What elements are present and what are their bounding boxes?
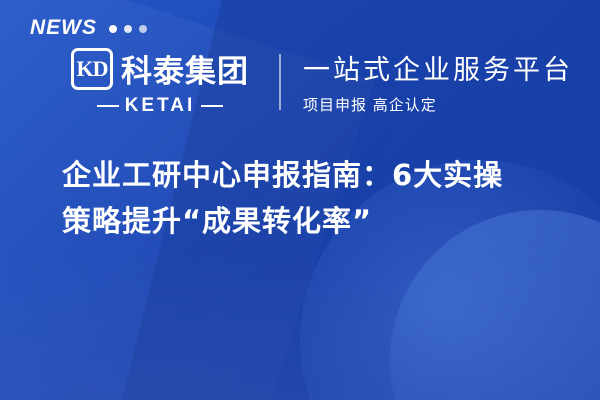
headline-line-2: 策略提升“成果转化率” — [62, 198, 552, 244]
logo-name-cn: 科泰集团 — [121, 46, 249, 91]
logo-primary-row: KD 科泰集团 — [71, 46, 249, 91]
three-dots-icon — [109, 25, 147, 33]
logo-secondary-row: KETAI — [55, 95, 265, 117]
dot — [124, 25, 132, 33]
logo-monogram-text: KD — [77, 58, 108, 80]
slogan-main: 一站式企业服务平台 — [303, 48, 573, 87]
news-header: NEWS — [30, 16, 147, 40]
headline-line-1: 企业工研中心申报指南：6大实操 — [62, 152, 552, 198]
vertical-divider — [279, 54, 281, 110]
logo-rule-left — [97, 105, 119, 107]
news-label: NEWS — [30, 16, 97, 40]
logo-rule-right — [201, 105, 223, 107]
brand-lockup: KD 科泰集团 KETAI 一站式企业服务平台 项目申报 高企认定 — [55, 46, 573, 117]
logo-name-en: KETAI — [125, 95, 196, 117]
headline: 企业工研中心申报指南：6大实操 策略提升“成果转化率” — [62, 152, 552, 244]
dot — [139, 25, 147, 33]
slogan-block: 一站式企业服务平台 项目申报 高企认定 — [303, 48, 573, 115]
news-banner: NEWS KD 科泰集团 KETAI 一站式企业服务平台 项目申报 高企认定 — [0, 0, 600, 400]
dot — [109, 25, 117, 33]
logo: KD 科泰集团 KETAI — [55, 46, 265, 117]
slogan-sub: 项目申报 高企认定 — [303, 94, 437, 115]
logo-monogram-icon: KD — [71, 48, 113, 90]
